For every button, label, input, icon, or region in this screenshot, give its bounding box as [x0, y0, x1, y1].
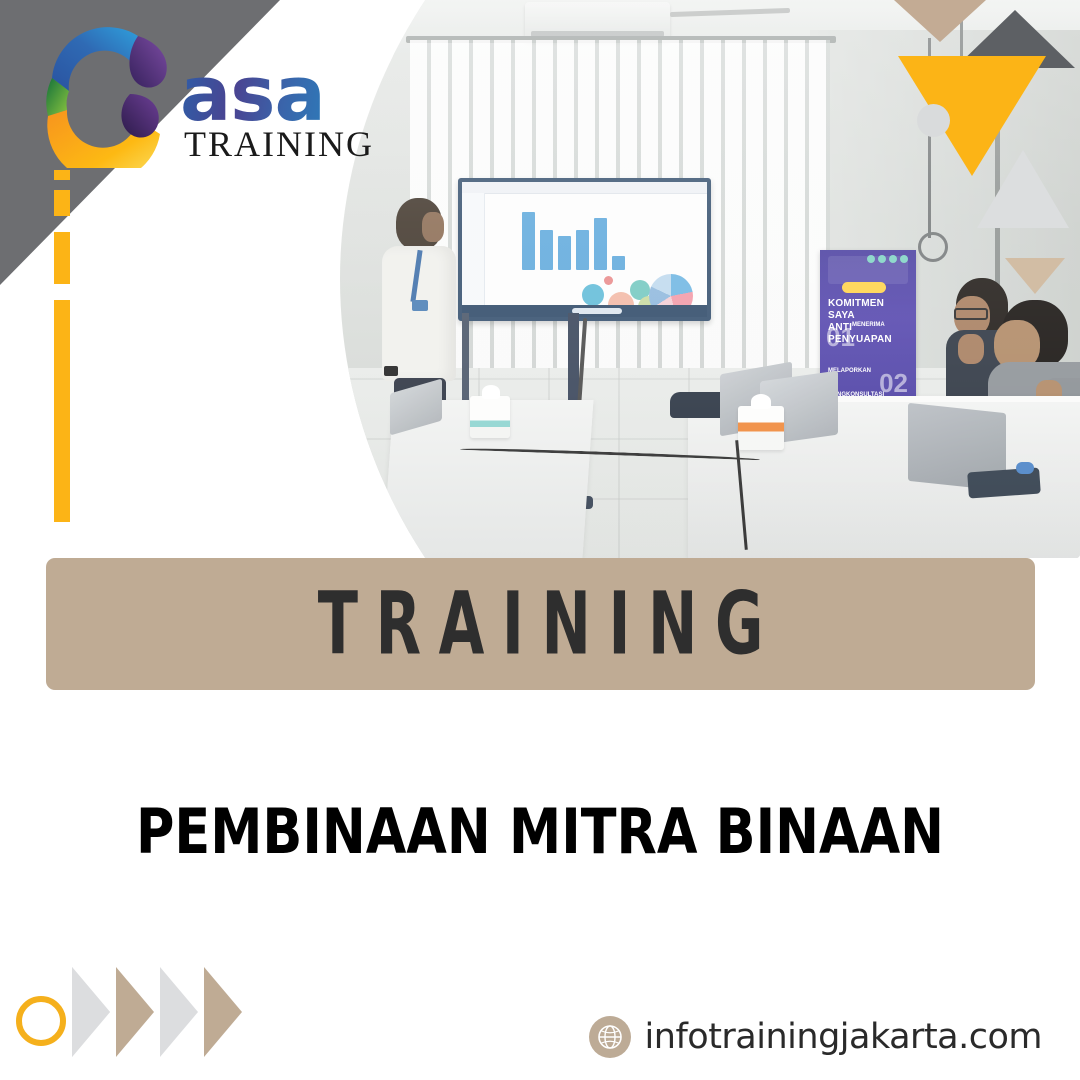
brand-wordmark: asa [180, 56, 325, 132]
presentation-display [458, 178, 711, 321]
presenter-badge [412, 300, 428, 311]
globe-icon [589, 1016, 631, 1058]
chevron-arrow-group [20, 967, 210, 1057]
website-url: infotrainingjakarta.com [645, 1017, 1042, 1057]
rollup-headline-line1: KOMITMEN SAYA [828, 298, 910, 322]
website-footer[interactable]: infotrainingjakarta.com [589, 1016, 1042, 1058]
light-gray-circle-icon [917, 104, 950, 137]
dash-segment-4 [54, 300, 70, 522]
presenter-face [422, 212, 444, 242]
chevron-icon-4 [204, 967, 266, 1057]
screen-toolbar [462, 182, 707, 194]
dash-segment-1 [54, 170, 70, 180]
light-gray-up-triangle-icon [977, 150, 1069, 228]
participant-1-glasses [954, 308, 988, 320]
hanging-ring-icon [918, 232, 948, 262]
dash-segment-3 [54, 232, 70, 284]
rollup-logo-badge [842, 282, 886, 293]
rollup-dots [867, 255, 908, 263]
poster-canvas: KOMITMEN SAYA ANTI PENYUAPAN 01 MENERIMA… [0, 0, 1080, 1080]
rollup-item-1-body [852, 324, 910, 330]
yellow-ring-icon [16, 996, 66, 1046]
training-banner-label: TRAINING [300, 574, 781, 675]
tissue-box-2 [738, 406, 784, 450]
screen-bottom-bar [462, 305, 707, 317]
mouse [1016, 462, 1034, 474]
tissue-box-1 [470, 396, 510, 438]
rollup-number-1: 01 [826, 322, 855, 353]
presenter-watch [384, 366, 398, 376]
small-tan-down-triangle-icon [1005, 258, 1065, 294]
asa-circular-logo-icon [34, 18, 180, 168]
training-banner: TRAINING [46, 558, 1035, 690]
page-title: PEMBINAAN MITRA BINAAN [32, 795, 1047, 868]
dash-segment-2 [54, 190, 70, 216]
participant-1-hand [958, 334, 984, 364]
brand-tagline: TRAINING [184, 126, 374, 162]
screen-bar-chart [522, 212, 625, 270]
screen-sidebar [462, 193, 485, 317]
